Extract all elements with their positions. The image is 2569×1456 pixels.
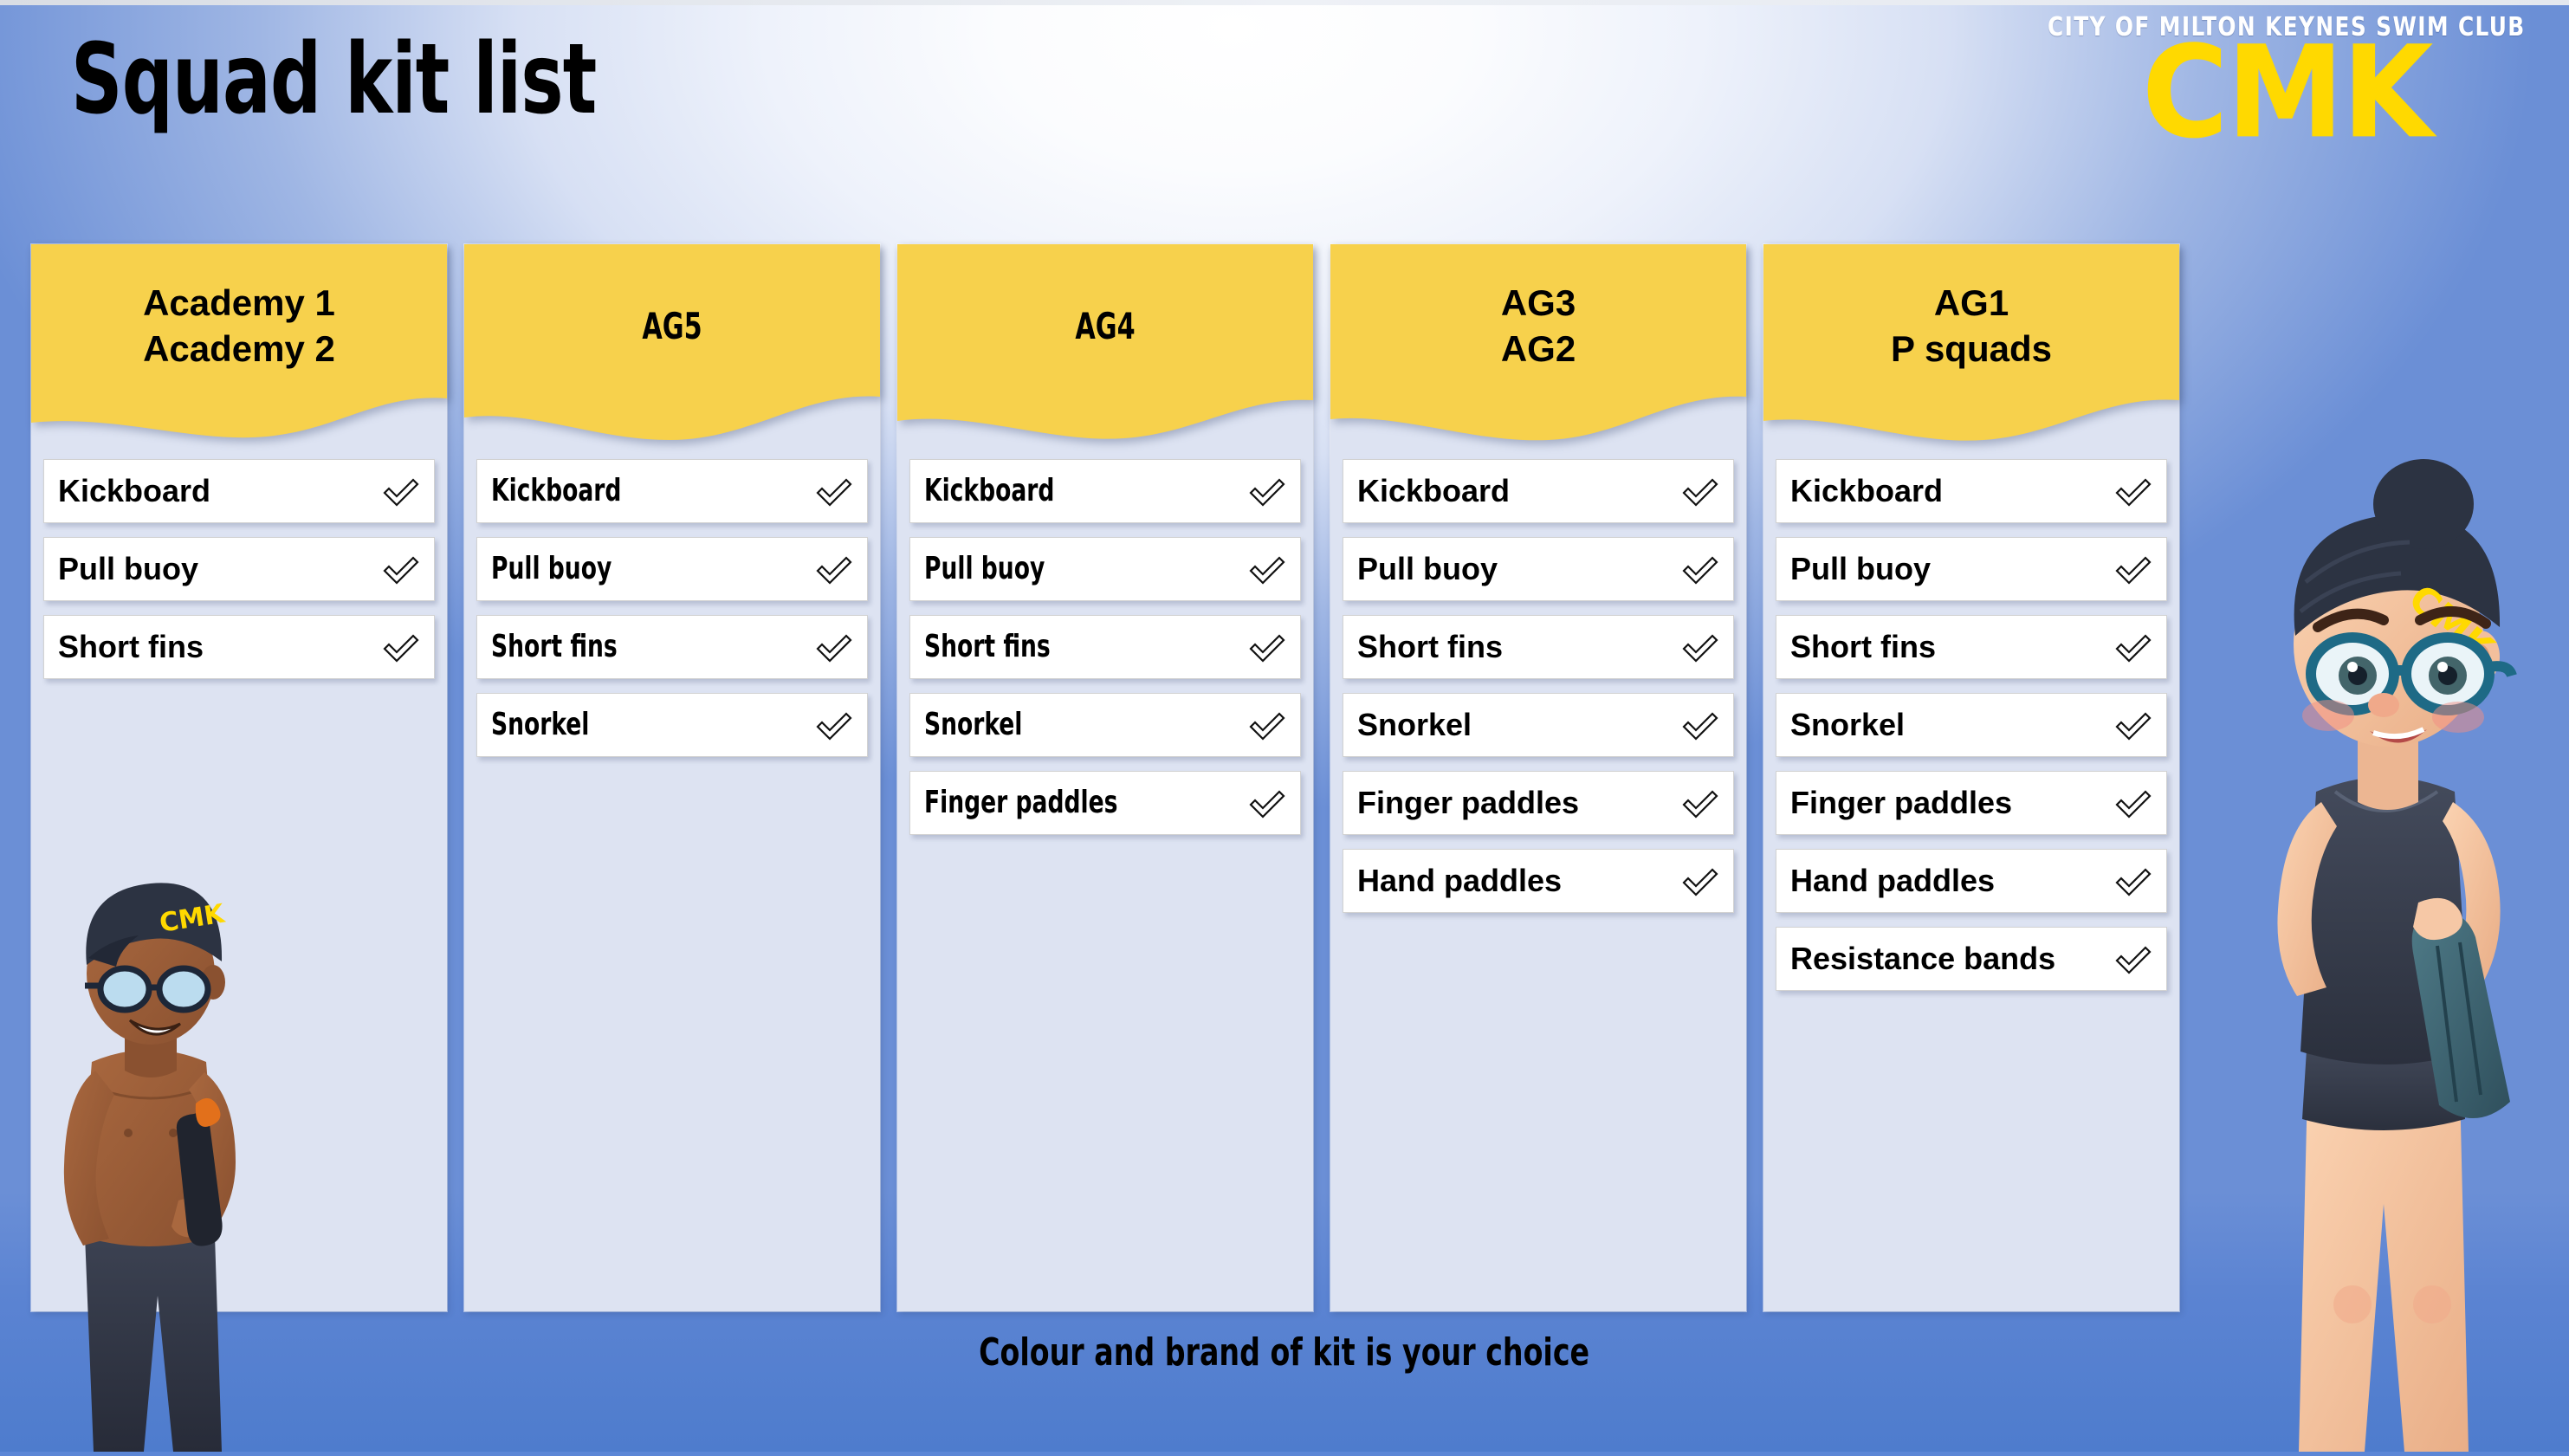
column-header-note: AG3AG2 xyxy=(1330,244,1746,445)
kit-item-label: Pull buoy xyxy=(1357,551,1498,587)
kit-item-label: Pull buoy xyxy=(491,551,612,587)
check-mark-outline-icon xyxy=(815,709,853,741)
kit-item-label: Snorkel xyxy=(1790,707,1905,743)
kit-item-row[interactable]: Kickboard xyxy=(1343,459,1734,523)
check-mark-outline-icon xyxy=(1681,553,1719,585)
column-header-label: AG3AG2 xyxy=(1330,244,1746,409)
kit-item-list: KickboardPull buoyShort finsSnorkelFinge… xyxy=(1763,445,2179,991)
check-mark-outline-icon xyxy=(1681,631,1719,663)
column-header-line-2: AG2 xyxy=(1501,327,1576,372)
column-header-line-2: Academy 2 xyxy=(143,327,335,372)
check-mark-outline-icon xyxy=(1248,631,1286,663)
kit-item-row[interactable]: Pull buoy xyxy=(1776,537,2167,601)
kit-columns: Academy 1Academy 2KickboardPull buoyShor… xyxy=(31,244,2214,1318)
kit-item-label: Short fins xyxy=(1357,629,1503,665)
kit-item-row[interactable]: Short fins xyxy=(909,615,1301,679)
kit-item-row[interactable]: Finger paddles xyxy=(909,771,1301,835)
kit-item-label: Kickboard xyxy=(1790,473,1943,509)
kit-column: AG5KickboardPull buoyShort finsSnorkel xyxy=(464,244,880,1311)
kit-item-row[interactable]: Kickboard xyxy=(909,459,1301,523)
kit-item-label: Snorkel xyxy=(491,707,589,743)
column-header-line-2: P squads xyxy=(1891,327,2052,372)
check-mark-outline-icon xyxy=(382,631,420,663)
kit-item-row[interactable]: Short fins xyxy=(43,615,435,679)
kit-item-row[interactable]: Pull buoy xyxy=(476,537,868,601)
kit-item-list: KickboardPull buoyShort fins xyxy=(31,445,447,679)
check-mark-outline-icon xyxy=(1248,476,1286,507)
column-header-line-1: AG3 xyxy=(1501,281,1576,327)
column-header-note: AG5 xyxy=(464,244,880,445)
column-header-note: Academy 1Academy 2 xyxy=(31,244,447,445)
check-mark-outline-icon xyxy=(382,553,420,585)
cmk-logo: CITY OF MILTON KEYNES SWIM CLUB CMK xyxy=(2027,12,2546,140)
check-mark-outline-icon xyxy=(382,476,420,507)
kit-item-list: KickboardPull buoyShort finsSnorkelFinge… xyxy=(1330,445,1746,913)
kit-item-row[interactable]: Finger paddles xyxy=(1776,771,2167,835)
kit-item-label: Short fins xyxy=(58,629,204,665)
column-header-label: AG1P squads xyxy=(1763,244,2179,409)
check-mark-outline-icon xyxy=(2114,709,2152,741)
kit-item-label: Kickboard xyxy=(58,473,210,509)
kit-item-label: Finger paddles xyxy=(1357,785,1579,821)
check-mark-outline-icon xyxy=(2114,476,2152,507)
kit-item-row[interactable]: Kickboard xyxy=(43,459,435,523)
footer-note-text: Colour and brand of kit is your choice xyxy=(980,1330,1590,1375)
kit-item-label: Pull buoy xyxy=(1790,551,1931,587)
kit-item-row[interactable]: Snorkel xyxy=(1343,693,1734,757)
kit-item-label: Short fins xyxy=(491,629,618,665)
kit-item-row[interactable]: Hand paddles xyxy=(1343,849,1734,913)
check-mark-outline-icon xyxy=(1681,476,1719,507)
kit-item-row[interactable]: Kickboard xyxy=(1776,459,2167,523)
kit-item-row[interactable]: Pull buoy xyxy=(43,537,435,601)
column-header-label: Academy 1Academy 2 xyxy=(31,244,447,409)
slide-top-edge xyxy=(0,0,2569,5)
kit-item-label: Snorkel xyxy=(1357,707,1472,743)
check-mark-outline-icon xyxy=(1681,709,1719,741)
check-mark-outline-icon xyxy=(2114,787,2152,819)
kit-item-row[interactable]: Kickboard xyxy=(476,459,868,523)
column-header-note: AG1P squads xyxy=(1763,244,2179,445)
logo-wordmark: CMK xyxy=(2027,39,2546,148)
check-mark-outline-icon xyxy=(815,476,853,507)
column-header-line-1: AG1 xyxy=(1934,281,2009,327)
kit-item-row[interactable]: Finger paddles xyxy=(1343,771,1734,835)
check-mark-outline-icon xyxy=(815,631,853,663)
column-header-label: AG5 xyxy=(506,244,838,409)
column-header-note: AG4 xyxy=(897,244,1313,445)
column-header-label: AG4 xyxy=(939,244,1272,409)
kit-item-label: Finger paddles xyxy=(924,785,1117,821)
kit-item-label: Finger paddles xyxy=(1790,785,2012,821)
kit-item-label: Snorkel xyxy=(924,707,1022,743)
check-mark-outline-icon xyxy=(1248,709,1286,741)
check-mark-outline-icon xyxy=(2114,865,2152,896)
check-mark-outline-icon xyxy=(2114,553,2152,585)
column-header-line-1: AG4 xyxy=(1075,304,1135,350)
check-mark-outline-icon xyxy=(815,553,853,585)
kit-item-label: Short fins xyxy=(924,629,1051,665)
column-header-line-1: Academy 1 xyxy=(143,281,335,327)
kit-item-label: Short fins xyxy=(1790,629,1936,665)
kit-item-list: KickboardPull buoyShort finsSnorkel xyxy=(464,445,880,757)
kit-item-list: KickboardPull buoyShort finsSnorkelFinge… xyxy=(897,445,1313,835)
kit-item-row[interactable]: Pull buoy xyxy=(909,537,1301,601)
check-mark-outline-icon xyxy=(1681,865,1719,896)
page-title: Squad kit list xyxy=(71,31,596,128)
kit-item-row[interactable]: Pull buoy xyxy=(1343,537,1734,601)
check-mark-outline-icon xyxy=(2114,631,2152,663)
kit-item-row[interactable]: Short fins xyxy=(1776,615,2167,679)
column-header-line-1: AG5 xyxy=(642,304,702,350)
kit-item-row[interactable]: Snorkel xyxy=(1776,693,2167,757)
kit-item-row[interactable]: Short fins xyxy=(1343,615,1734,679)
kit-column: AG4KickboardPull buoyShort finsSnorkelFi… xyxy=(897,244,1313,1311)
kit-item-label: Kickboard xyxy=(924,473,1054,509)
kit-item-row[interactable]: Short fins xyxy=(476,615,868,679)
kit-item-label: Pull buoy xyxy=(924,551,1045,587)
kit-item-row[interactable]: Resistance bands xyxy=(1776,927,2167,991)
kit-item-label: Pull buoy xyxy=(58,551,198,587)
kit-column: Academy 1Academy 2KickboardPull buoyShor… xyxy=(31,244,447,1311)
check-mark-outline-icon xyxy=(1248,787,1286,819)
kit-item-label: Kickboard xyxy=(1357,473,1510,509)
kit-item-label: Kickboard xyxy=(491,473,621,509)
kit-column: AG3AG2KickboardPull buoyShort finsSnorke… xyxy=(1330,244,1746,1311)
kit-item-row[interactable]: Snorkel xyxy=(909,693,1301,757)
kit-item-row[interactable]: Snorkel xyxy=(476,693,868,757)
kit-item-label: Resistance bands xyxy=(1790,941,2055,977)
footer-note: Colour and brand of kit is your choice xyxy=(0,1330,2569,1375)
check-mark-outline-icon xyxy=(1248,553,1286,585)
check-mark-outline-icon xyxy=(1681,787,1719,819)
kit-column: AG1P squadsKickboardPull buoyShort finsS… xyxy=(1763,244,2179,1311)
check-mark-outline-icon xyxy=(2114,943,2152,974)
kit-item-label: Hand paddles xyxy=(1357,863,1562,899)
kit-item-label: Hand paddles xyxy=(1790,863,1995,899)
kit-item-row[interactable]: Hand paddles xyxy=(1776,849,2167,913)
